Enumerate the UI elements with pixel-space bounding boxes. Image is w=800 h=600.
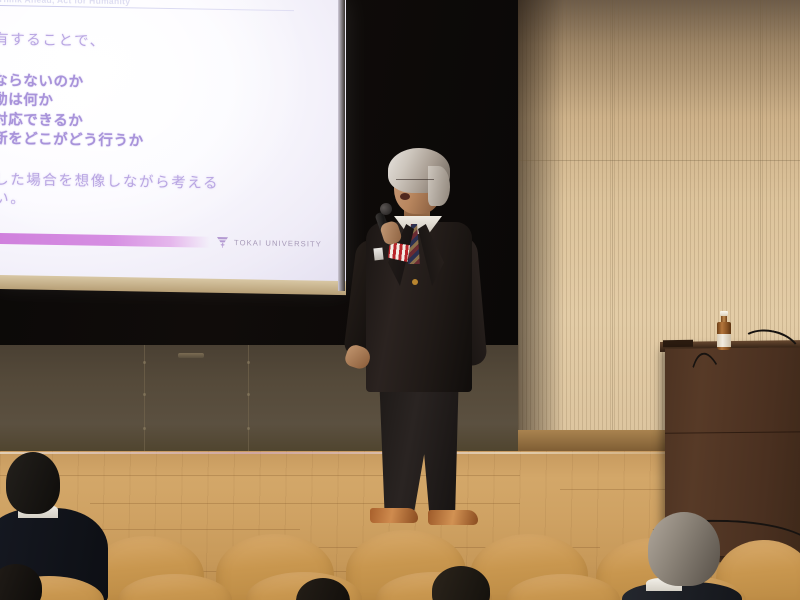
projection-screen: Think Ahead, Act for Humanity 共有することで、 ば… <box>0 0 346 289</box>
lectern-top-lip <box>663 340 693 347</box>
audience-member-head <box>6 452 60 514</box>
lapel-pin-icon <box>412 279 418 285</box>
speaker-mouth <box>400 193 410 200</box>
bottle-label <box>717 334 731 347</box>
speaker-legs <box>376 384 462 514</box>
speaker-shoe-right <box>428 510 478 525</box>
speaker-name-badge <box>373 248 383 261</box>
eyeglasses-icon <box>396 179 434 188</box>
tokai-university-mark-icon <box>216 235 229 249</box>
speaker-shoe-left <box>370 508 418 523</box>
lecture-hall-photo: Think Ahead, Act for Humanity 共有することで、 ば… <box>0 0 800 600</box>
audience-member-head <box>648 512 720 586</box>
wall-vent-icon <box>178 353 204 358</box>
slide-body-text: 共有することで、 ばならないのか 行動は何か て対応できるか 判断をどこがどう行… <box>0 33 318 212</box>
tokai-university-logo-text: TOKAI UNIVERSITY <box>234 238 322 249</box>
slide-footer-logo: TOKAI UNIVERSITY <box>216 235 322 251</box>
bottle-cap <box>720 311 728 316</box>
speaker-presenter <box>340 140 530 525</box>
